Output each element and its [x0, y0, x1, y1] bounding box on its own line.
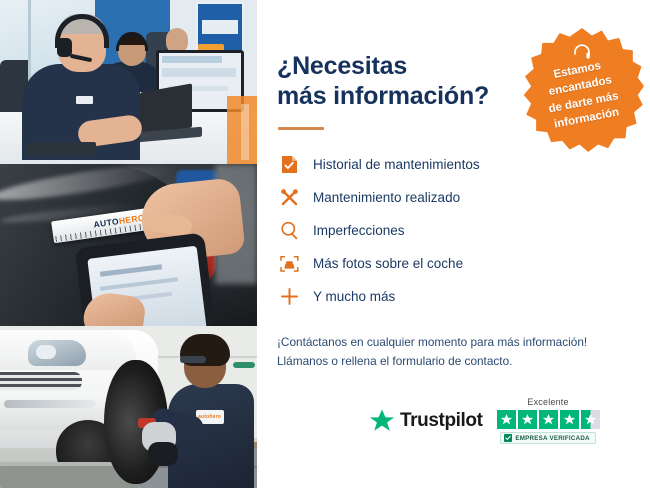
- contact-text: ¡Contáctanos en cualquier momento para m…: [277, 333, 650, 371]
- uniform-logo: autohero: [198, 414, 221, 420]
- trustpilot-logo[interactable]: Trustpilot: [369, 408, 483, 434]
- car-inspection-ruler-photo: AUTOHERO: [0, 164, 257, 326]
- title-divider: [278, 127, 324, 130]
- wrench-screwdriver-icon: [279, 188, 299, 208]
- rating-stars: [497, 410, 600, 429]
- car-scan-icon: [279, 254, 299, 274]
- feature-item-fotos: Más fotos sobre el coche: [279, 247, 650, 280]
- feature-list: Historial de mantenimientos Mantenimient…: [279, 148, 650, 313]
- rating-label: Excelente: [527, 397, 568, 407]
- photo-column: AUTOHERO: [0, 0, 257, 488]
- trustpilot-rating: Excelente EMPRESA VERIFICADA: [497, 397, 600, 444]
- feature-item-imperfecciones: Imperfecciones: [279, 214, 650, 247]
- star-3: [539, 410, 558, 429]
- star-1: [497, 410, 516, 429]
- mechanic-wheel-photo: autohero: [0, 326, 257, 488]
- contact-line-1: ¡Contáctanos en cualquier momento para m…: [277, 333, 650, 352]
- star-4: [560, 410, 579, 429]
- star-5-half: [581, 410, 600, 429]
- promo-starburst-badge: Estamos encantados de darte más informac…: [520, 28, 644, 152]
- headset-icon: [572, 43, 592, 61]
- feature-label: Imperfecciones: [313, 223, 405, 238]
- feature-label: Y mucho más: [313, 289, 395, 304]
- feature-item-mas: Y mucho más: [279, 280, 650, 313]
- page-title-line1: ¿Necesitas: [277, 52, 407, 80]
- trustpilot-star-icon: [369, 408, 395, 434]
- verified-label: EMPRESA VERIFICADA: [515, 435, 589, 442]
- feature-label: Historial de mantenimientos: [313, 157, 480, 172]
- plus-icon: [279, 287, 299, 307]
- call-center-agents-photo: [0, 0, 257, 164]
- trustpilot-widget[interactable]: Trustpilot Excelente EMPRESA VERIFICADA: [369, 397, 600, 444]
- content-panel: ¿Necesitas más información? Historial de…: [257, 0, 650, 488]
- promo-banner: AUTOHERO: [0, 0, 650, 488]
- star-2: [518, 410, 537, 429]
- trustpilot-brand: Trustpilot: [400, 410, 483, 432]
- contact-line-2: Llámanos o rellena el formulario de cont…: [277, 352, 650, 371]
- feature-item-historial: Historial de mantenimientos: [279, 148, 650, 181]
- magnifier-icon: [279, 221, 299, 241]
- verified-business-badge: EMPRESA VERIFICADA: [500, 432, 595, 444]
- feature-label: Más fotos sobre el coche: [313, 256, 463, 271]
- check-icon: [504, 434, 512, 442]
- feature-label: Mantenimiento realizado: [313, 190, 460, 205]
- feature-item-mantenimiento: Mantenimiento realizado: [279, 181, 650, 214]
- document-check-icon: [279, 155, 299, 175]
